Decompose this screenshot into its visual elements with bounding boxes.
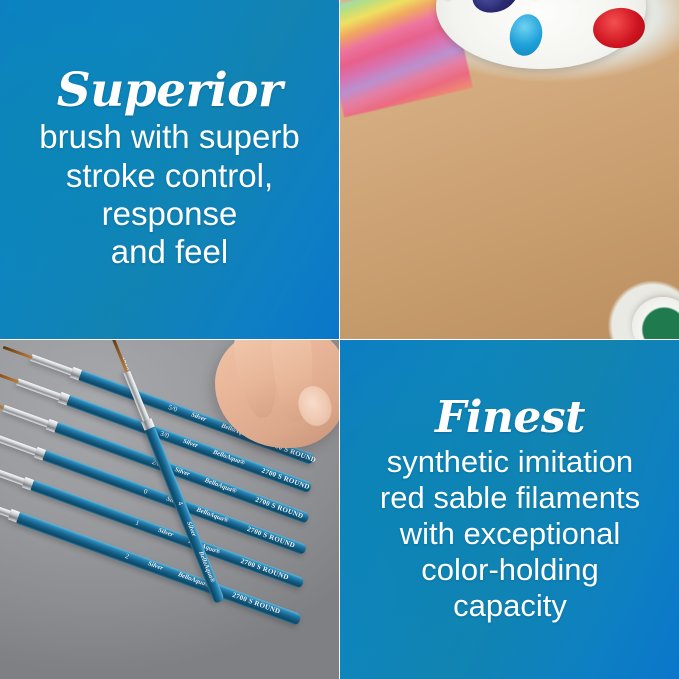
panel-finest-line-3: with exceptional (380, 516, 640, 552)
panel-finest-line-1: synthetic imitation (380, 444, 640, 480)
panel-superior-line-4: and feel (39, 233, 299, 271)
panel-finest-line-5: capacity (380, 588, 640, 624)
panel-finest-script-heading: Finest (435, 396, 585, 440)
product-collage: Superior brush with superb stroke contro… (0, 0, 679, 679)
panel-finest: Finest synthetic imitation red sable fil… (340, 340, 679, 679)
panel-superior: Superior brush with superb stroke contro… (0, 0, 339, 339)
panel-superior-body: brush with superb stroke control, respon… (39, 118, 299, 271)
panel-finest-line-2: red sable filaments (380, 480, 640, 516)
panel-finest-body: synthetic imitation red sable filaments … (380, 444, 640, 624)
panel-superior-line-3: response (39, 195, 299, 233)
panel-finest-line-4: color-holding (380, 552, 640, 588)
photo-brushes-on-kraft-paper: Silver BelloAqua® 6/0 Silver BelloAqua® … (340, 0, 679, 339)
panel-superior-line-2: stroke control, (39, 157, 299, 195)
paint-jar-green (632, 297, 679, 339)
panel-superior-script-heading: Superior (57, 67, 283, 114)
photo-hand-holding-brush: 5/0 Silver BelloAqua® 2700 S ROUND 3/0 S… (0, 340, 339, 679)
panel-superior-line-1: brush with superb (39, 118, 299, 156)
